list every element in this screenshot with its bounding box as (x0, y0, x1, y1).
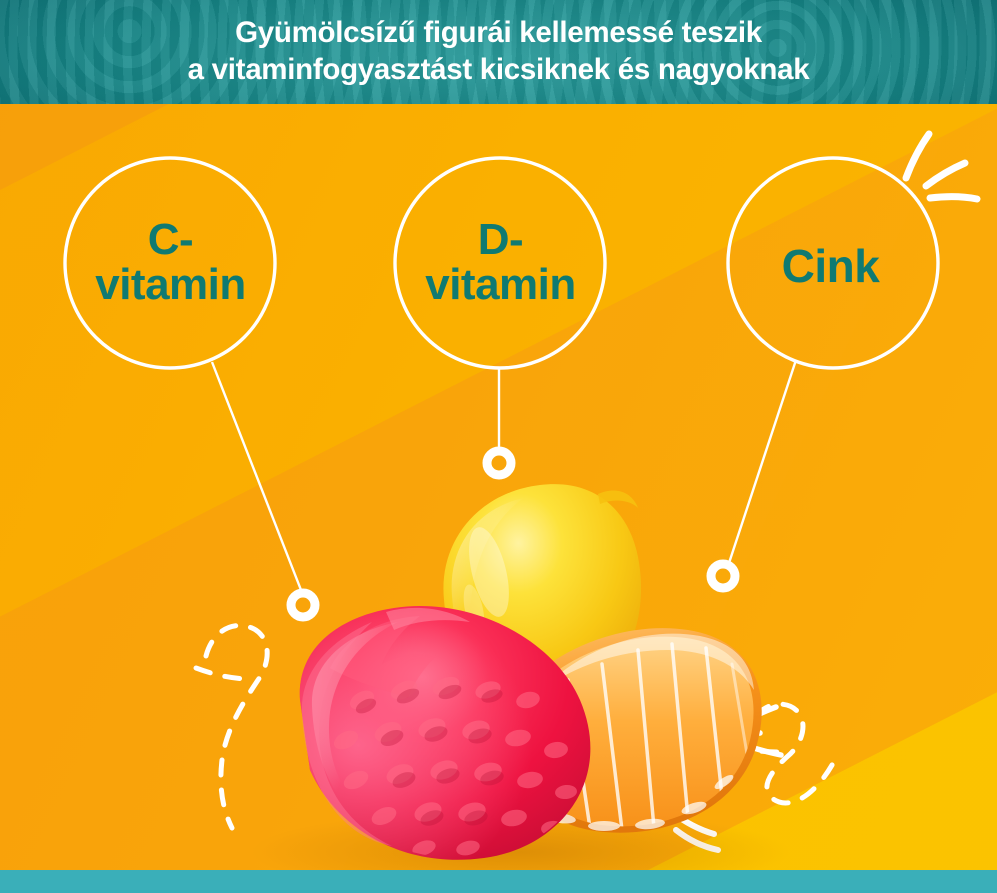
header-title-line2: a vitaminfogyasztást kicsiknek és nagyok… (188, 53, 810, 88)
header-bar: Gyümölcsízű figurái kellemessé teszik a … (0, 0, 997, 104)
badge-label-cink: Cink (723, 243, 938, 290)
badge-label-d-vitamin: D- vitamin (393, 218, 608, 308)
bottom-accent-strip (0, 870, 997, 893)
badge-label-c-vitamin: C- vitamin (63, 218, 278, 308)
vitamin-promo-banner: Gyümölcsízű figurái kellemessé teszik a … (0, 0, 997, 893)
header-title: Gyümölcsízű figurái kellemessé teszik a … (0, 0, 997, 104)
header-title-line1: Gyümölcsízű figurái kellemessé teszik (235, 16, 762, 51)
